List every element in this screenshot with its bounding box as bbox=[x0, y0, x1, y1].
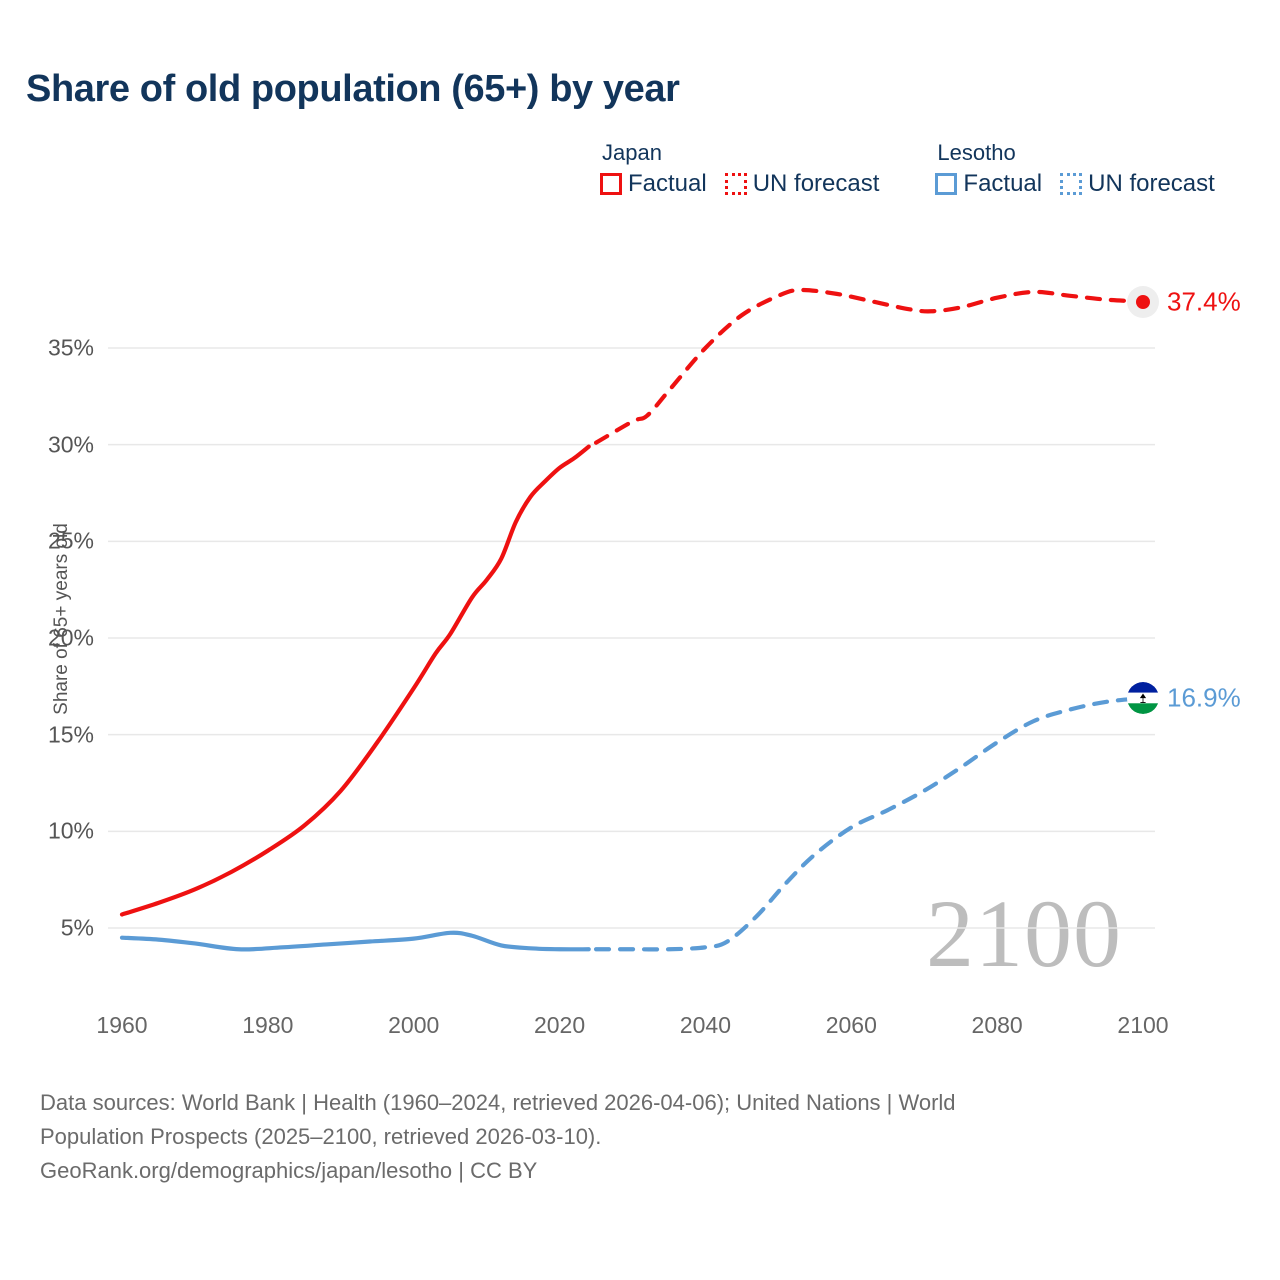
x-tick-label: 2020 bbox=[534, 1012, 585, 1039]
footer-line-2: Population Prospects (2025–2100, retriev… bbox=[40, 1120, 1170, 1154]
gridlines bbox=[108, 348, 1155, 928]
red-dot-icon bbox=[1136, 295, 1150, 309]
x-tick-label: 2060 bbox=[826, 1012, 877, 1039]
y-tick-label: 20% bbox=[8, 625, 94, 652]
x-tick-label: 2100 bbox=[1117, 1012, 1168, 1039]
y-tick-label: 25% bbox=[8, 528, 94, 555]
x-tick-label: 1980 bbox=[242, 1012, 293, 1039]
series-lines bbox=[122, 290, 1143, 949]
series-line-japan-factual bbox=[122, 447, 589, 915]
x-tick-label: 2040 bbox=[680, 1012, 731, 1039]
y-tick-label: 35% bbox=[8, 335, 94, 362]
y-tick-label: 5% bbox=[8, 915, 94, 942]
lesotho-endpoint-marker[interactable] bbox=[1127, 682, 1159, 714]
footer-line-1: Data sources: World Bank | Health (1960–… bbox=[40, 1086, 1170, 1120]
footer-sources: Data sources: World Bank | Health (1960–… bbox=[40, 1086, 1170, 1188]
series-line-japan-forecast bbox=[596, 290, 1143, 443]
series-line-lesotho-forecast bbox=[596, 698, 1143, 949]
footer-line-3[interactable]: GeoRank.org/demographics/japan/lesotho |… bbox=[40, 1154, 1170, 1188]
series-line-lesotho-factual bbox=[122, 933, 589, 950]
x-tick-label: 2080 bbox=[972, 1012, 1023, 1039]
x-tick-label: 1960 bbox=[96, 1012, 147, 1039]
y-tick-label: 15% bbox=[8, 721, 94, 748]
y-tick-label: 10% bbox=[8, 818, 94, 845]
y-tick-label: 30% bbox=[8, 431, 94, 458]
lesotho-flag-icon bbox=[1127, 682, 1159, 714]
japan-endpoint-value: 37.4% bbox=[1167, 286, 1241, 317]
japan-endpoint-marker[interactable] bbox=[1127, 286, 1159, 318]
lesotho-endpoint-value: 16.9% bbox=[1167, 682, 1241, 713]
x-tick-label: 2000 bbox=[388, 1012, 439, 1039]
